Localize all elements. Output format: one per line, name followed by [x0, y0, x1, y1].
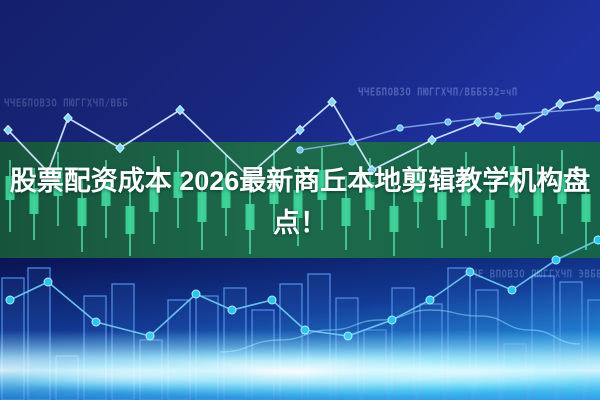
watermark-left: ЧЧЕБПОВЗО ПЮГГХЧП/ВББ — [4, 98, 128, 110]
data-point-marker — [397, 125, 403, 131]
data-point-marker — [495, 113, 501, 119]
data-point-marker — [594, 91, 600, 100]
data-point-marker — [116, 143, 124, 152]
data-point-marker — [349, 139, 355, 145]
data-point-marker — [297, 147, 303, 153]
upper-line-chart — [0, 0, 600, 400]
data-point-marker — [368, 165, 376, 174]
watermark-top: ЧЧЕБПОВЗО ПЮГГХЧП/ВББ5Э2=чП — [358, 87, 518, 99]
data-point-marker — [556, 99, 564, 108]
data-point-marker — [542, 109, 548, 115]
data-point-marker — [445, 119, 451, 125]
stock-banner-image: ЧЧЕБПОВЗО ПЮГГХЧП/ВББ ЧЧЕБПОВЗО ПЮГГХЧП/… — [0, 0, 600, 400]
data-point-marker — [64, 113, 72, 122]
data-point-marker — [428, 135, 436, 144]
data-point-marker — [595, 105, 600, 111]
data-point-marker — [516, 123, 524, 132]
watermark-middle: ЧЧЕ ВПОВЗО ПЮГГХЧП ЭВББ5 Э2=чП — [466, 269, 600, 281]
